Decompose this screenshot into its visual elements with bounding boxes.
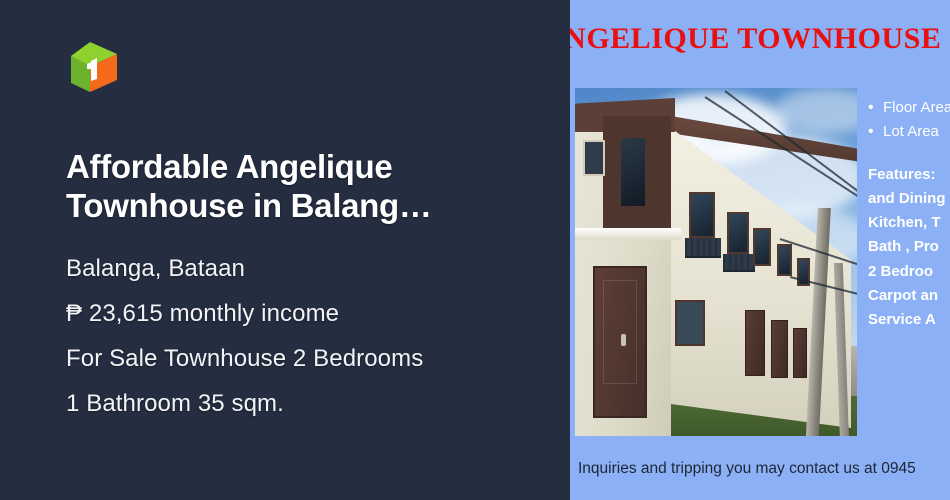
listing-info-pane: Affordable Angelique Townhouse in Balang… [0, 0, 570, 500]
house-logo[interactable] [64, 36, 126, 98]
flyer-contact-text: Inquiries and tripping you may contact u… [578, 460, 916, 478]
front-door [593, 266, 647, 418]
side-window [583, 140, 605, 176]
listing-description-line-1: For Sale Townhouse 2 Bedrooms [66, 337, 536, 382]
listing-card: Affordable Angelique Townhouse in Balang… [0, 0, 950, 500]
unit-window [777, 244, 792, 276]
flyer-feature-line: Kitchen, T [868, 211, 950, 235]
flyer-feature-line: and Dining [868, 187, 950, 211]
flyer-features-heading: Features: [868, 163, 950, 187]
balcony-rail [723, 254, 755, 272]
ground-floor-window [675, 300, 705, 346]
townhouse-photo [575, 88, 857, 436]
flyer-bullet-floor-area: Floor Area [868, 96, 950, 120]
listing-location: Balanga, Bataan [66, 247, 536, 292]
flyer-feature-line: Bath , Pro [868, 235, 950, 259]
unit-door [793, 328, 807, 378]
listing-text-block: Affordable Angelique Townhouse in Balang… [66, 148, 536, 427]
unit-door [745, 310, 765, 376]
flyer-headline: ANGELIQUE TOWNHOUSE [570, 22, 950, 56]
flyer-feature-line: 2 Bedroo [868, 260, 950, 284]
door-knob [621, 334, 626, 346]
listing-description-line-2: 1 Bathroom 35 sqm. [66, 382, 536, 427]
flyer-copy: Floor Area Lot Area Features: and Dining… [868, 96, 950, 333]
unit-window [689, 192, 715, 238]
page-title: Affordable Angelique Townhouse in Balang… [66, 148, 536, 225]
upper-window [619, 136, 647, 208]
listing-flyer-image[interactable]: ANGELIQUE TOWNHOUSE [570, 0, 950, 500]
flyer-footer: Inquiries and tripping you may contact u… [570, 438, 950, 500]
flyer-feature-line: Service A [868, 308, 950, 332]
unit-door [771, 320, 788, 378]
unit-window [753, 228, 771, 266]
listing-income: ₱ 23,615 monthly income [66, 292, 536, 337]
listing-details: Balanga, Bataan ₱ 23,615 monthly income … [66, 247, 536, 427]
unit-window [727, 212, 749, 254]
flyer-feature-line: Carpot an [868, 284, 950, 308]
entry-canopy [575, 228, 681, 240]
balcony-rail [685, 238, 721, 258]
flyer-bullet-lot-area: Lot Area [868, 120, 950, 144]
